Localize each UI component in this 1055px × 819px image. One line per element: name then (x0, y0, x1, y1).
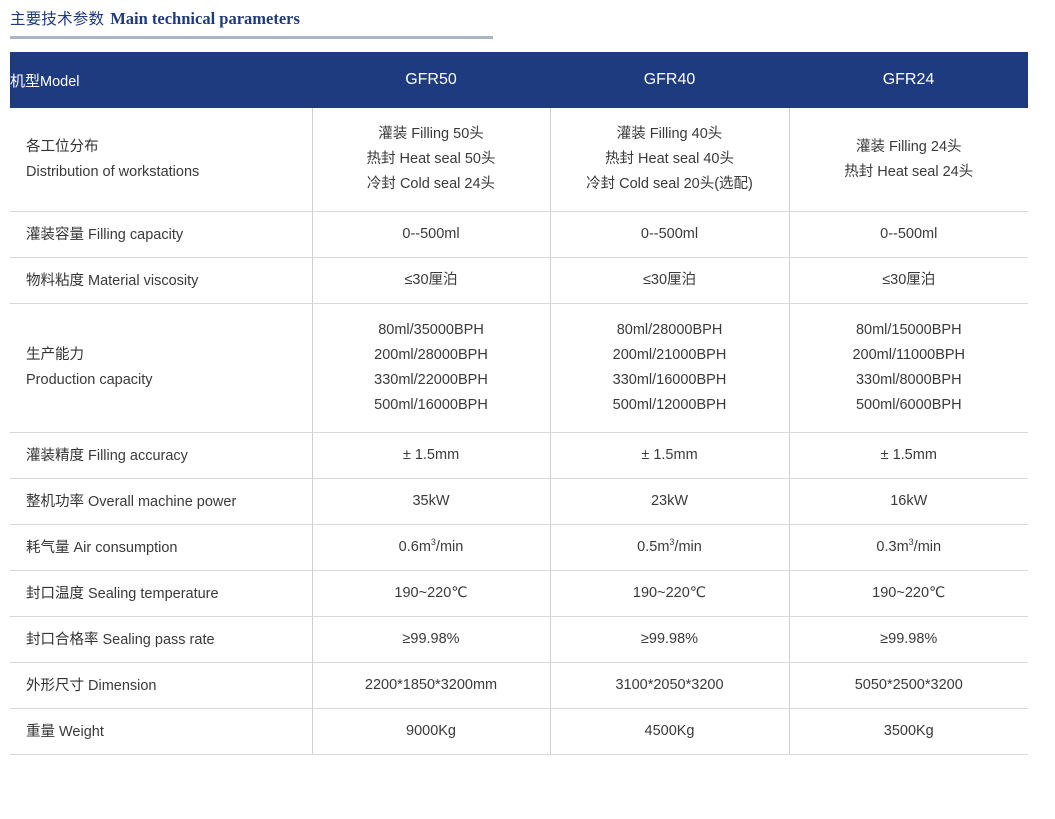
value-line: 500ml/12000BPH (557, 393, 783, 418)
table-row: 灌装精度Filling accuracy± 1.5mm± 1.5mm± 1.5m… (10, 433, 1028, 479)
page-title-chinese: 主要技术参数 (10, 10, 104, 28)
row-label-english: Weight (59, 724, 104, 740)
table-body: 各工位分布Distribution of workstations灌装 Fill… (10, 108, 1028, 755)
row-value-cell: 23kW (550, 479, 789, 525)
value-line: 80ml/15000BPH (796, 318, 1023, 343)
value-line: 80ml/28000BPH (557, 318, 783, 343)
value-line: ≥99.98% (557, 627, 783, 652)
value-line: 190~220℃ (319, 581, 544, 606)
row-label-cell: 耗气量Air consumption (10, 525, 312, 571)
value-line: 2200*1850*3200mm (319, 673, 544, 698)
value-line: 330ml/22000BPH (319, 368, 544, 393)
table-row: 物料粘度Material viscosity≤30厘泊≤30厘泊≤30厘泊 (10, 258, 1028, 304)
row-value-cell: 190~220℃ (789, 571, 1028, 617)
value-line: ± 1.5mm (557, 443, 783, 468)
row-value-cell: 5050*2500*3200 (789, 663, 1028, 709)
header-cell-model: 机型Model (10, 52, 312, 108)
row-label-chinese: 灌装容量 (26, 227, 84, 243)
row-value-cell: 0.3m3/min (789, 525, 1028, 571)
value-line: 热封 Heat seal 24头 (796, 160, 1023, 185)
row-label-chinese: 外形尺寸 (26, 678, 84, 694)
row-label-cell: 整机功率Overall machine power (10, 479, 312, 525)
value-line: 灌装 Filling 50头 (319, 122, 544, 147)
row-label-cell: 重量Weight (10, 709, 312, 755)
table-row: 耗气量Air consumption0.6m3/min0.5m3/min0.3m… (10, 525, 1028, 571)
row-value-cell: 灌装 Filling 40头热封 Heat seal 40头冷封 Cold se… (550, 108, 789, 212)
table-row: 各工位分布Distribution of workstations灌装 Fill… (10, 108, 1028, 212)
row-label-chinese: 重量 (26, 724, 55, 740)
row-value-cell: ≤30厘泊 (312, 258, 550, 304)
row-label-cell: 封口合格率Sealing pass rate (10, 617, 312, 663)
value-line: ≥99.98% (319, 627, 544, 652)
row-value-cell: ≤30厘泊 (550, 258, 789, 304)
header-model-english: Model (40, 74, 80, 90)
row-label-chinese: 封口温度 (26, 586, 84, 602)
row-value-cell: 0--500ml (312, 212, 550, 258)
value-line: 200ml/21000BPH (557, 343, 783, 368)
title-underline-rule (10, 36, 493, 39)
value-line: 0.5m3/min (557, 535, 783, 560)
row-label-cell: 各工位分布Distribution of workstations (10, 108, 312, 212)
row-value-cell: 灌装 Filling 50头热封 Heat seal 50头冷封 Cold se… (312, 108, 550, 212)
value-line: 190~220℃ (557, 581, 783, 606)
value-line: 35kW (319, 489, 544, 514)
row-label-english: Filling capacity (88, 227, 183, 243)
row-label-chinese: 物料粘度 (26, 273, 84, 289)
value-line: 灌装 Filling 24头 (796, 135, 1023, 160)
value-line: 0.6m3/min (319, 535, 544, 560)
row-value-cell: 80ml/15000BPH200ml/11000BPH330ml/8000BPH… (789, 304, 1028, 433)
value-line: ≤30厘泊 (796, 268, 1023, 293)
row-label-cell: 生产能力Production capacity (10, 304, 312, 433)
table-row: 整机功率Overall machine power35kW23kW16kW (10, 479, 1028, 525)
value-line: 5050*2500*3200 (796, 673, 1023, 698)
row-value-cell: 190~220℃ (312, 571, 550, 617)
value-line: 热封 Heat seal 50头 (319, 147, 544, 172)
value-line: 200ml/11000BPH (796, 343, 1023, 368)
row-value-cell: 0.6m3/min (312, 525, 550, 571)
row-value-cell: 0--500ml (789, 212, 1028, 258)
value-line: ± 1.5mm (796, 443, 1023, 468)
table-row: 封口温度Sealing temperature190~220℃190~220℃1… (10, 571, 1028, 617)
table-header-row: 机型Model GFR50 GFR40 GFR24 (10, 52, 1028, 108)
table-row: 重量Weight9000Kg4500Kg3500Kg (10, 709, 1028, 755)
row-label-english: Distribution of workstations (26, 160, 302, 185)
row-value-cell: ≤30厘泊 (789, 258, 1028, 304)
row-value-cell: 2200*1850*3200mm (312, 663, 550, 709)
value-line: 0--500ml (319, 222, 544, 247)
header-cell-gfr40: GFR40 (550, 52, 789, 108)
value-line: 80ml/35000BPH (319, 318, 544, 343)
value-line: 0.3m3/min (796, 535, 1023, 560)
row-value-cell: 80ml/28000BPH200ml/21000BPH330ml/16000BP… (550, 304, 789, 433)
value-line: 16kW (796, 489, 1023, 514)
row-label-cell: 灌装精度Filling accuracy (10, 433, 312, 479)
value-line: 3100*2050*3200 (557, 673, 783, 698)
row-value-cell: ± 1.5mm (550, 433, 789, 479)
table-row: 外形尺寸Dimension2200*1850*3200mm3100*2050*3… (10, 663, 1028, 709)
value-line: 0--500ml (557, 222, 783, 247)
row-value-cell: 0.5m3/min (550, 525, 789, 571)
row-label-chinese: 耗气量 (26, 540, 70, 556)
row-value-cell: 4500Kg (550, 709, 789, 755)
row-value-cell: ± 1.5mm (789, 433, 1028, 479)
header-model-chinese: 机型 (10, 72, 40, 90)
main-technical-parameters-table: 机型Model GFR50 GFR40 GFR24 各工位分布Distribut… (10, 52, 1028, 755)
value-line: ≥99.98% (796, 627, 1023, 652)
row-label-english: Air consumption (74, 540, 178, 556)
value-line: 4500Kg (557, 719, 783, 744)
page-title-block: 主要技术参数Main technical parameters (0, 0, 1055, 39)
row-label-cell: 外形尺寸Dimension (10, 663, 312, 709)
row-label-cell: 物料粘度Material viscosity (10, 258, 312, 304)
value-line: 500ml/16000BPH (319, 393, 544, 418)
page-title-english: Main technical parameters (110, 9, 300, 28)
value-line: 灌装 Filling 40头 (557, 122, 783, 147)
value-line: 热封 Heat seal 40头 (557, 147, 783, 172)
row-label-english: Sealing temperature (88, 586, 219, 602)
row-label-chinese: 生产能力 (26, 343, 302, 368)
row-label-chinese: 灌装精度 (26, 448, 84, 464)
value-line: 23kW (557, 489, 783, 514)
row-value-cell: ≥99.98% (312, 617, 550, 663)
row-value-cell: 0--500ml (550, 212, 789, 258)
row-label-english: Overall machine power (88, 494, 236, 510)
row-label-english: Filling accuracy (88, 448, 188, 464)
header-cell-gfr50: GFR50 (312, 52, 550, 108)
table-header: 机型Model GFR50 GFR40 GFR24 (10, 52, 1028, 108)
value-line: 9000Kg (319, 719, 544, 744)
row-value-cell: 3500Kg (789, 709, 1028, 755)
row-label-chinese: 封口合格率 (26, 632, 99, 648)
value-line: ≤30厘泊 (319, 268, 544, 293)
row-label-chinese: 整机功率 (26, 494, 84, 510)
row-value-cell: 80ml/35000BPH200ml/28000BPH330ml/22000BP… (312, 304, 550, 433)
value-line: 冷封 Cold seal 20头(选配) (557, 172, 783, 197)
row-value-cell: ± 1.5mm (312, 433, 550, 479)
row-value-cell: 3100*2050*3200 (550, 663, 789, 709)
table-row: 灌装容量Filling capacity0--500ml0--500ml0--5… (10, 212, 1028, 258)
row-label-english: Sealing pass rate (103, 632, 215, 648)
row-label-english: Production capacity (26, 368, 302, 393)
row-label-cell: 灌装容量Filling capacity (10, 212, 312, 258)
header-cell-gfr24: GFR24 (789, 52, 1028, 108)
value-line: 3500Kg (796, 719, 1023, 744)
value-line: 330ml/8000BPH (796, 368, 1023, 393)
row-value-cell: 灌装 Filling 24头热封 Heat seal 24头 (789, 108, 1028, 212)
value-line: 190~220℃ (796, 581, 1023, 606)
row-label-chinese: 各工位分布 (26, 135, 302, 160)
row-value-cell: ≥99.98% (789, 617, 1028, 663)
page-title: 主要技术参数Main technical parameters (10, 9, 1055, 30)
value-line: ± 1.5mm (319, 443, 544, 468)
row-value-cell: 35kW (312, 479, 550, 525)
value-line: 500ml/6000BPH (796, 393, 1023, 418)
row-value-cell: 9000Kg (312, 709, 550, 755)
row-label-cell: 封口温度Sealing temperature (10, 571, 312, 617)
value-line: 冷封 Cold seal 24头 (319, 172, 544, 197)
row-value-cell: 16kW (789, 479, 1028, 525)
value-line: ≤30厘泊 (557, 268, 783, 293)
value-line: 200ml/28000BPH (319, 343, 544, 368)
value-line: 0--500ml (796, 222, 1023, 247)
table-row: 生产能力Production capacity80ml/35000BPH200m… (10, 304, 1028, 433)
row-value-cell: 190~220℃ (550, 571, 789, 617)
row-label-english: Dimension (88, 678, 157, 694)
value-line: 330ml/16000BPH (557, 368, 783, 393)
table-row: 封口合格率Sealing pass rate≥99.98%≥99.98%≥99.… (10, 617, 1028, 663)
row-label-english: Material viscosity (88, 273, 198, 289)
row-value-cell: ≥99.98% (550, 617, 789, 663)
spec-table-container: 机型Model GFR50 GFR40 GFR24 各工位分布Distribut… (0, 52, 1055, 755)
